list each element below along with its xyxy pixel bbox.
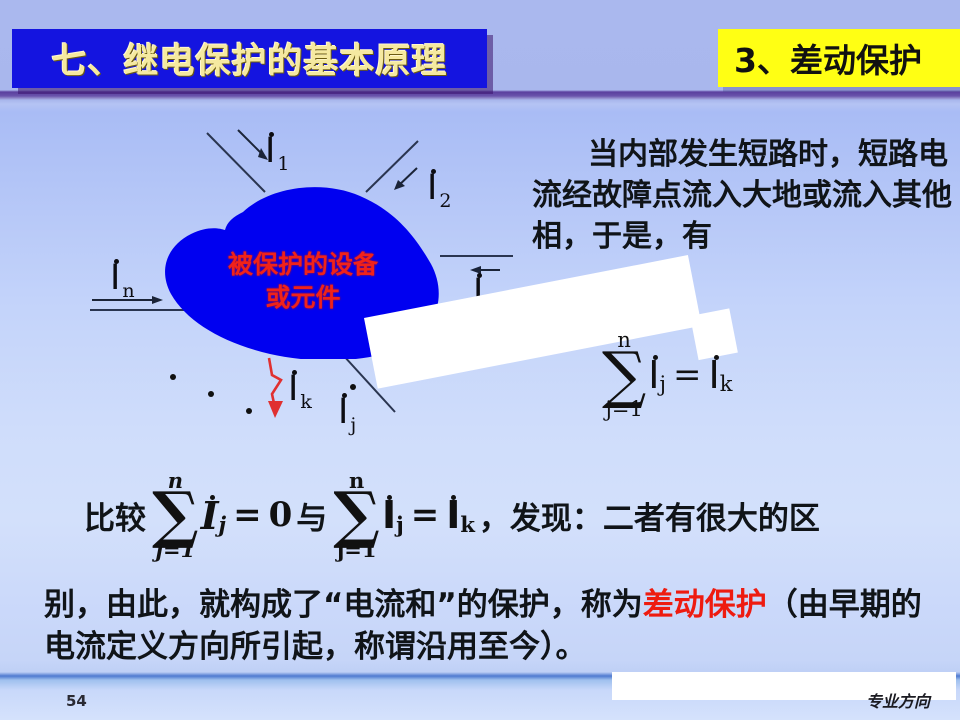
sigma-glyph: ∑ (333, 491, 380, 539)
arrow-head-in (152, 296, 163, 304)
ellipsis-dot (170, 374, 176, 380)
current-i1-subscript: 1 (277, 153, 289, 175)
blob-label-line2: 或元件 (168, 281, 438, 314)
compare-line: 比较 n ∑ j=1 Ij = 0 与 n ∑ j=1 Ij = Ik ，发现：… (80, 470, 824, 560)
expr1-term-symbol: I (201, 493, 219, 538)
formula-term-symbol: I (648, 353, 659, 397)
expr2-equals: = (411, 495, 440, 535)
ellipsis-dot (208, 391, 214, 397)
sigma-lower-limit: j=1 (337, 539, 377, 560)
label-current-ik: Ik (288, 369, 310, 409)
formula-term-subscript: j (659, 372, 666, 396)
formula-result-subscript: k (720, 372, 733, 396)
current-i2-symbol: I (427, 168, 437, 208)
current-in-subscript: n (122, 280, 134, 302)
label-current-in: In (110, 258, 133, 298)
expr1-equals: = (233, 495, 262, 535)
expr1-term-subscript: j (218, 512, 226, 537)
current-ik-symbol: I (288, 369, 298, 409)
sigma-group: n ∑ j=1 (152, 470, 199, 560)
compare-conjunction: 与 (296, 493, 327, 538)
formula-equals: = (673, 355, 702, 395)
sigma-glyph: ∑ (602, 351, 646, 399)
current-ik-subscript: k (300, 391, 312, 413)
sigma-lower-limit: j=1 (155, 539, 195, 560)
sigma-group: n ∑ j=1 (333, 470, 380, 560)
closing-part1: 别，由此，就构成了“电流和”的保护，称为 (44, 587, 643, 623)
label-current-i2: I2 (427, 168, 449, 208)
compare-lead: 比较 (84, 493, 146, 538)
fault-arrow-head-ik (268, 401, 283, 418)
closing-highlight2: 护 (736, 587, 767, 623)
expr1-result: 0 (269, 495, 293, 535)
current-ij-symbol: I (338, 392, 348, 432)
current-i1-symbol: I (265, 131, 275, 171)
label-current-ij: Ij (338, 392, 354, 432)
footer-brand: 专业方向 (866, 688, 930, 712)
expr2-result-symbol: I (446, 493, 460, 537)
slide-canvas: 七、继电保护的基本原理 3、差动保护 当内部发生短路时，短路电流经故障点流入大地… (0, 0, 960, 720)
current-ij-subscript: j (350, 414, 356, 436)
formula-sum-equals-ik: n ∑ j=1 Ij = Ik (600, 330, 732, 420)
current-in-symbol: I (110, 258, 120, 298)
fault-zigzag-ik (269, 358, 281, 408)
compare-expression-2: n ∑ j=1 Ij = Ik (331, 470, 475, 560)
formula-result-symbol: I (709, 353, 720, 397)
expr2-term-symbol: I (382, 493, 396, 537)
sigma-lower-limit: j=1 (605, 399, 642, 420)
ellipsis-dot (246, 408, 252, 414)
blob-label: 被保护的设备 或元件 (168, 248, 438, 314)
label-current-i1: I1 (265, 131, 287, 171)
expr2-result-subscript: k (460, 512, 475, 537)
compare-expression-1: n ∑ j=1 Ij = 0 (150, 470, 292, 560)
ellipsis-dot (350, 384, 356, 390)
blob-label-line1: 被保护的设备 (168, 248, 438, 281)
sigma-glyph: ∑ (152, 491, 199, 539)
closing-paragraph: 别，由此，就构成了“电流和”的保护，称为差动保护（由早期的电流定义方向所引起，称… (44, 584, 949, 668)
sigma-group: n ∑ j=1 (602, 330, 646, 420)
closing-highlight1: 差动保 (643, 587, 736, 623)
current-i2-subscript: 2 (439, 190, 451, 212)
compare-tail: ，发现：二者有很大的区 (479, 493, 820, 538)
page-number: 54 (66, 692, 87, 710)
expr2-term-subscript: j (396, 512, 404, 537)
